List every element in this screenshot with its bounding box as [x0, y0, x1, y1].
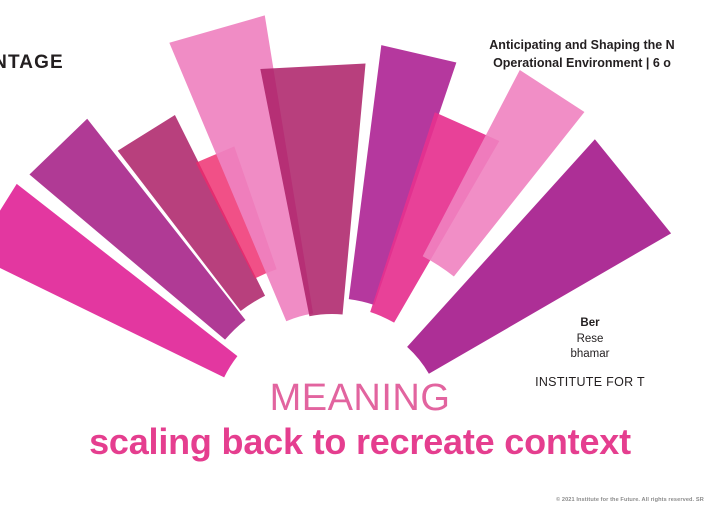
blade-5-light-pink [169, 15, 313, 321]
blade-9-light-pink [423, 70, 585, 276]
event-title-line-2: Operational Environment | 6 o [372, 54, 720, 72]
blade-3-plum [118, 115, 265, 311]
speaker-name: Ber [430, 316, 720, 332]
blade-6-plum-center [260, 64, 365, 317]
blade-1-magenta [0, 184, 237, 378]
blade-2-purple [29, 119, 245, 340]
event-title: Anticipating and Shaping the N Operation… [372, 36, 720, 72]
event-title-line-1: Anticipating and Shaping the N [372, 36, 720, 54]
speaker-email: bhamar [430, 347, 720, 363]
blade-8-hot-pink [370, 112, 499, 322]
blade-4-red-pink [196, 146, 277, 278]
brand-mark-label: VANTAGE [0, 52, 64, 74]
speaker-role: Rese [430, 332, 720, 348]
page-title: scaling back to recreate context [0, 422, 720, 462]
blade-7-purple-right [349, 45, 457, 305]
presentation-slide: VANTAGE Anticipating and Shaping the N O… [0, 0, 720, 520]
slide-title-block: MEANING scaling back to recreate context [0, 378, 720, 462]
copyright-footer: © 2021 Institute for the Future. All rig… [556, 497, 704, 503]
page-title-kicker: MEANING [0, 378, 720, 418]
